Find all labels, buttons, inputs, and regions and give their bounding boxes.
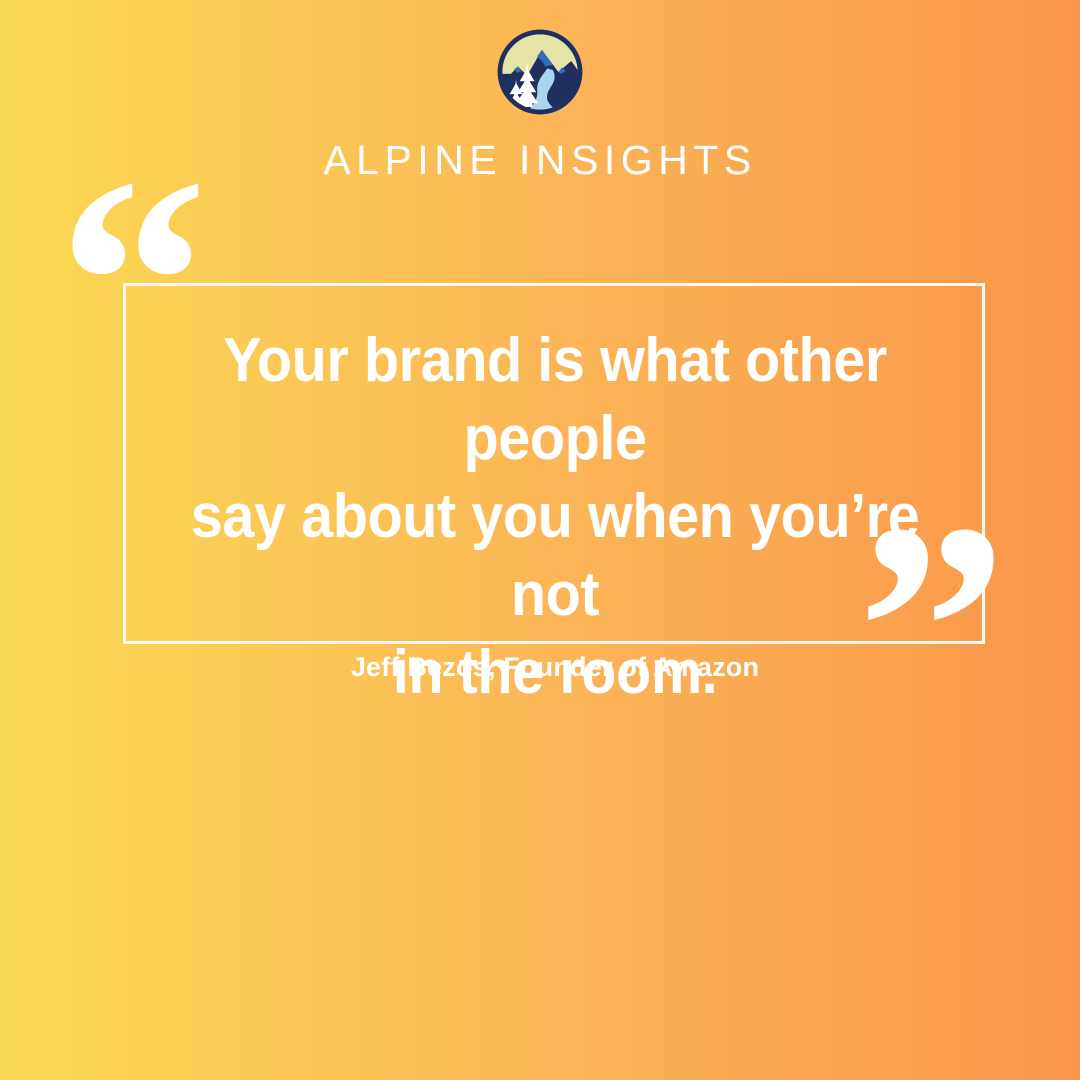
quote-line: say about you when you’re not	[169, 478, 941, 634]
quote-attribution: Jeff Bezos, Founder of Amazon	[140, 654, 970, 681]
mountain-river-circle-logo-icon	[494, 26, 586, 118]
brand-name: ALPINE INSIGHTS	[323, 140, 756, 181]
quote-line: Your brand is what other people	[169, 322, 941, 478]
closing-quote-mark-icon: ”	[857, 478, 1007, 778]
quote-card-canvas: ALPINE INSIGHTS “ Your brand is what oth…	[0, 0, 1080, 1080]
